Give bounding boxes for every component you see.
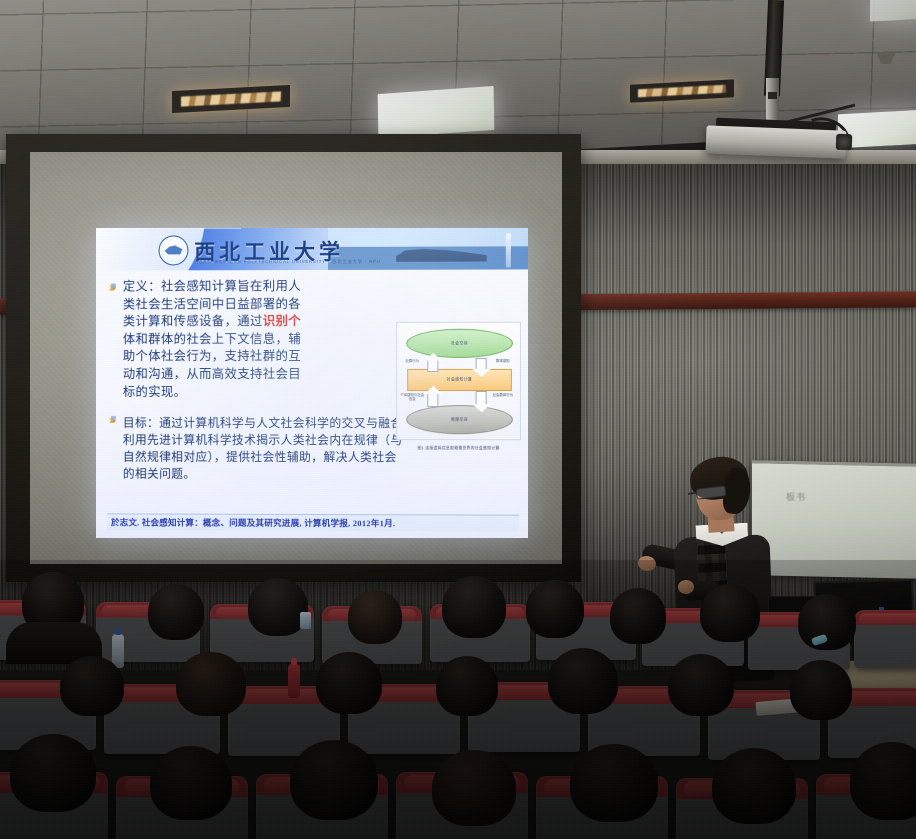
diagram-edge-label: 个体感知与社会信息 — [399, 393, 425, 402]
student-head — [436, 656, 498, 716]
student-head — [10, 734, 96, 812]
student-head — [526, 580, 584, 638]
definition-line-plain: 类计算和传感设备，通过 — [123, 314, 263, 328]
diagram-node-physical-space: 物理空间 — [406, 405, 513, 434]
smartphone[interactable] — [300, 612, 311, 629]
diagram-arrow-down-icon — [476, 391, 487, 405]
definition-line-highlight: 动和沟通，从而高效支持社会目 — [123, 366, 328, 384]
definition-line-highlight: 标的实现。 — [123, 384, 328, 402]
student-head — [570, 744, 658, 822]
student-head — [790, 660, 852, 720]
diagram-node-label: 社会感知计算 — [408, 377, 511, 382]
flat-panel-light-icon — [870, 0, 916, 22]
diagram-arrow-down-icon — [476, 358, 487, 370]
definition-line: 类社会生活空间中日益部署的各 — [123, 296, 328, 314]
student-head — [668, 654, 734, 716]
student-head — [700, 584, 760, 642]
student-head — [290, 740, 378, 820]
water-bottle[interactable] — [288, 664, 300, 698]
student-head — [442, 576, 506, 638]
definition-line-highlight: 助个体社会行为，支持社群的互 — [123, 348, 328, 366]
seat[interactable] — [854, 610, 916, 668]
student-head — [348, 590, 402, 644]
diagram-arrow-up-icon — [427, 393, 438, 407]
definition-line-highlight: 体和群体的社会上下文信息，辅 — [123, 331, 328, 349]
student-head — [548, 648, 618, 714]
student-head — [60, 656, 124, 716]
bullet-marker-icon — [109, 416, 118, 425]
diagram-caption: 图1 连接虚拟信息和物理世界的社会感知计算 — [397, 446, 520, 451]
student-head — [150, 746, 232, 820]
lecture-hall-scene: 板书 西北工业大学 NORTHWESTERN POLYTECHNICAL UNI… — [0, 0, 916, 839]
definition-line: 定义：社会感知计算旨在利用人 — [123, 278, 328, 296]
student-head — [432, 750, 516, 826]
flat-panel-light-icon — [378, 86, 495, 138]
water-bottle[interactable] — [112, 634, 124, 668]
diagram-node-social-space: 社会空间 — [406, 329, 513, 358]
student-head — [798, 594, 856, 650]
student-head — [248, 578, 308, 636]
audience-area — [0, 560, 916, 839]
bullet-marker-icon — [109, 283, 118, 292]
definition-text-block: 定义：社会感知计算旨在利用人 类社会生活空间中日益部署的各 类计算和传感设备，通… — [123, 278, 328, 401]
projected-slide: 西北工业大学 NORTHWESTERN POLYTECHNICAL UNIVER… — [96, 228, 528, 538]
university-name-en: NORTHWESTERN POLYTECHNICAL UNIVERSITY · … — [195, 259, 381, 266]
slide-citation: 於志文. 社会感知计算：概念、问题及其研究进展, 计算机学报, 2012年1月. — [107, 513, 519, 531]
slide-body: 社会空间 社会感知计算 物理空间 社群行为 群体感知 个体感知与社会信息 — [97, 269, 528, 538]
definition-line-highlight: 识别个 — [263, 314, 301, 328]
goal-line: 的相关问题。 — [123, 465, 519, 483]
student-head — [712, 748, 796, 824]
student-head — [316, 652, 382, 714]
projector-body — [706, 125, 847, 158]
student-head — [176, 652, 246, 716]
student-head — [610, 588, 666, 644]
projector-lens-icon — [836, 134, 853, 151]
university-logo-icon — [159, 235, 189, 265]
diagram-edge-label: 群体感知 — [490, 359, 516, 363]
diagram-edge-label: 社群行为 — [399, 359, 425, 363]
diagram-node-label: 社会空间 — [407, 341, 512, 346]
slide-header-banner: 西北工业大学 NORTHWESTERN POLYTECHNICAL UNIVER… — [97, 228, 528, 271]
diagram-node-label: 物理空间 — [407, 417, 512, 422]
student-head — [148, 584, 204, 640]
diagram-arrow-up-icon — [427, 360, 438, 372]
social-sensing-computing-diagram: 社会空间 社会感知计算 物理空间 社群行为 群体感知 个体感知与社会信息 — [396, 322, 521, 441]
diagram-edge-label: 社会群体行为 — [490, 393, 516, 397]
definition-line: 类计算和传感设备，通过识别个 — [123, 313, 328, 331]
header-tower-graphic — [506, 233, 511, 267]
